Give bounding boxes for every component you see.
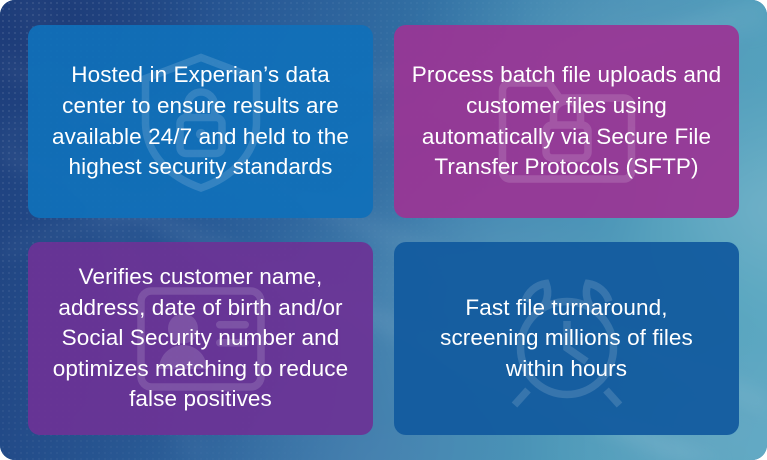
feature-panel: Hosted in Experian’s data center to ensu… xyxy=(0,0,767,460)
feature-card-text: Hosted in Experian’s data center to ensu… xyxy=(46,60,356,182)
feature-card-identity-verification[interactable]: Verifies customer name, address, date of… xyxy=(28,242,373,435)
feature-card-fast-turnaround[interactable]: Fast file turnaround, screening millions… xyxy=(394,242,739,435)
feature-card-text: Process batch file uploads and customer … xyxy=(408,60,725,182)
feature-card-text: Fast file turnaround, screening millions… xyxy=(417,293,717,385)
feature-card-hosting-security[interactable]: Hosted in Experian’s data center to ensu… xyxy=(28,25,373,218)
feature-card-grid: Hosted in Experian’s data center to ensu… xyxy=(28,25,739,435)
feature-card-batch-file-uploads[interactable]: Process batch file uploads and customer … xyxy=(394,25,739,218)
feature-card-text: Verifies customer name, address, date of… xyxy=(42,262,359,415)
